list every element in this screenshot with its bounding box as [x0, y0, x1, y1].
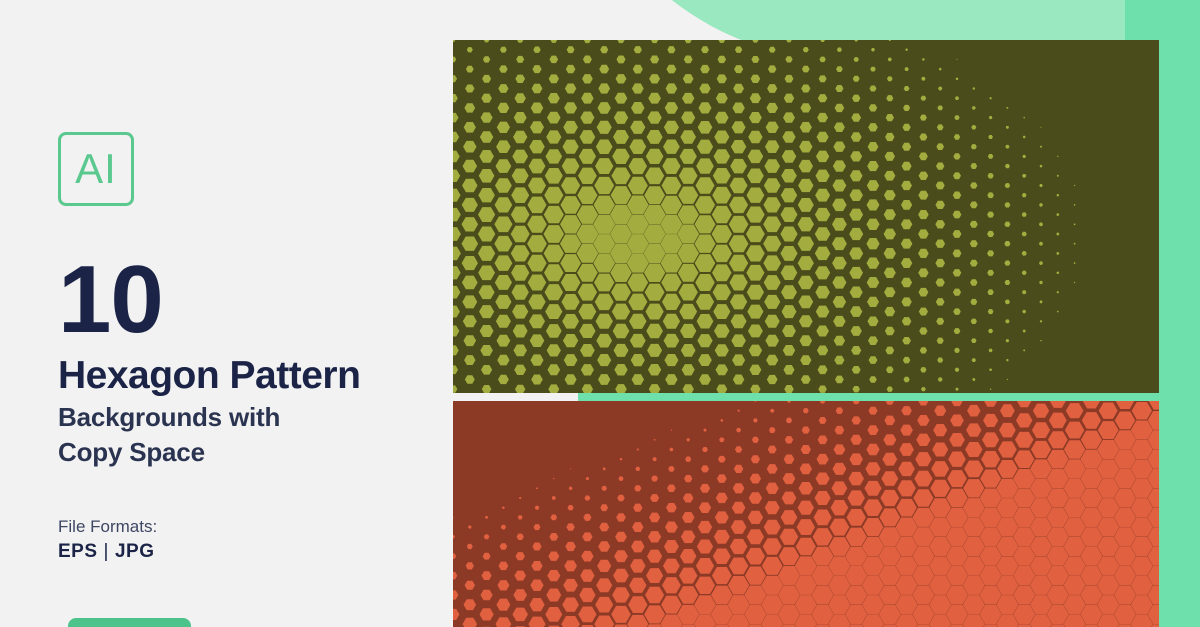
- hexagon-pattern-preview-red[interactable]: [453, 401, 1159, 627]
- file-formats-label: File Formats:: [58, 517, 157, 537]
- file-formats-value: EPS|JPG: [58, 541, 155, 563]
- hexagon-halftone-green-svg: [453, 40, 1159, 393]
- product-info-column: AI 10 Hexagon Pattern Backgrounds with C…: [58, 0, 438, 627]
- page-subtitle-line-2: Copy Space: [58, 435, 280, 470]
- page-subtitle-line-1: Backgrounds with: [58, 400, 280, 435]
- ai-format-badge-label: AI: [75, 148, 117, 190]
- hexagon-pattern-preview-green[interactable]: [453, 40, 1159, 393]
- file-format-separator: |: [98, 541, 115, 562]
- hexagon-halftone-red-svg: [453, 401, 1159, 627]
- preview-canvas: AI 10 Hexagon Pattern Backgrounds with C…: [0, 0, 1200, 627]
- item-count: 10: [58, 252, 163, 348]
- file-format-jpg: JPG: [115, 541, 155, 562]
- page-title: Hexagon Pattern: [58, 356, 360, 397]
- page-subtitle: Backgrounds with Copy Space: [58, 400, 280, 470]
- cta-button[interactable]: [68, 618, 191, 627]
- file-format-eps: EPS: [58, 541, 98, 562]
- mint-right-bar-decoration: [1155, 0, 1200, 627]
- ai-format-badge: AI: [58, 132, 134, 206]
